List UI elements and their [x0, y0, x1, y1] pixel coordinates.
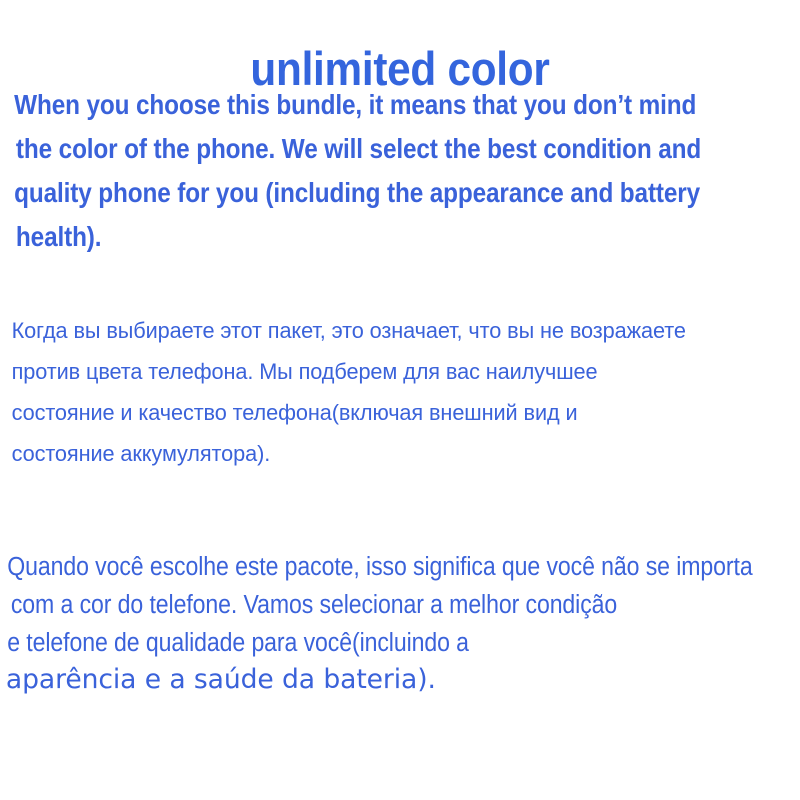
- description-portuguese-line: com a cor do telefone. Vamos selecionar …: [0, 586, 724, 624]
- description-russian-line: состояние аккумулятора).: [0, 433, 772, 474]
- description-portuguese-line: aparência e a saúde da bateria).: [0, 662, 788, 698]
- description-english-line: quality phone for you (including the app…: [0, 171, 708, 215]
- description-english-line: the color of the phone. We will select t…: [0, 127, 708, 171]
- description-russian: Когда вы выбираете этот пакет, это означ…: [0, 310, 800, 474]
- description-portuguese-line: Quando você escolhe este pacote, isso si…: [0, 548, 724, 586]
- description-english-line: When you choose this bundle, it means th…: [0, 83, 708, 127]
- description-portuguese: Quando você escolhe este pacote, isso si…: [0, 548, 800, 698]
- description-russian-line: состояние и качество телефона(включая вн…: [0, 392, 772, 433]
- promo-banner: unlimited color When you choose this bun…: [0, 0, 800, 800]
- description-russian-line: против цвета телефона. Мы подберем для в…: [0, 351, 772, 392]
- description-english: When you choose this bundle, it means th…: [0, 83, 800, 259]
- description-russian-line: Когда вы выбираете этот пакет, это означ…: [0, 310, 772, 351]
- description-portuguese-line: e telefone de qualidade para você(inclui…: [0, 624, 724, 662]
- description-english-line: health).: [0, 215, 708, 259]
